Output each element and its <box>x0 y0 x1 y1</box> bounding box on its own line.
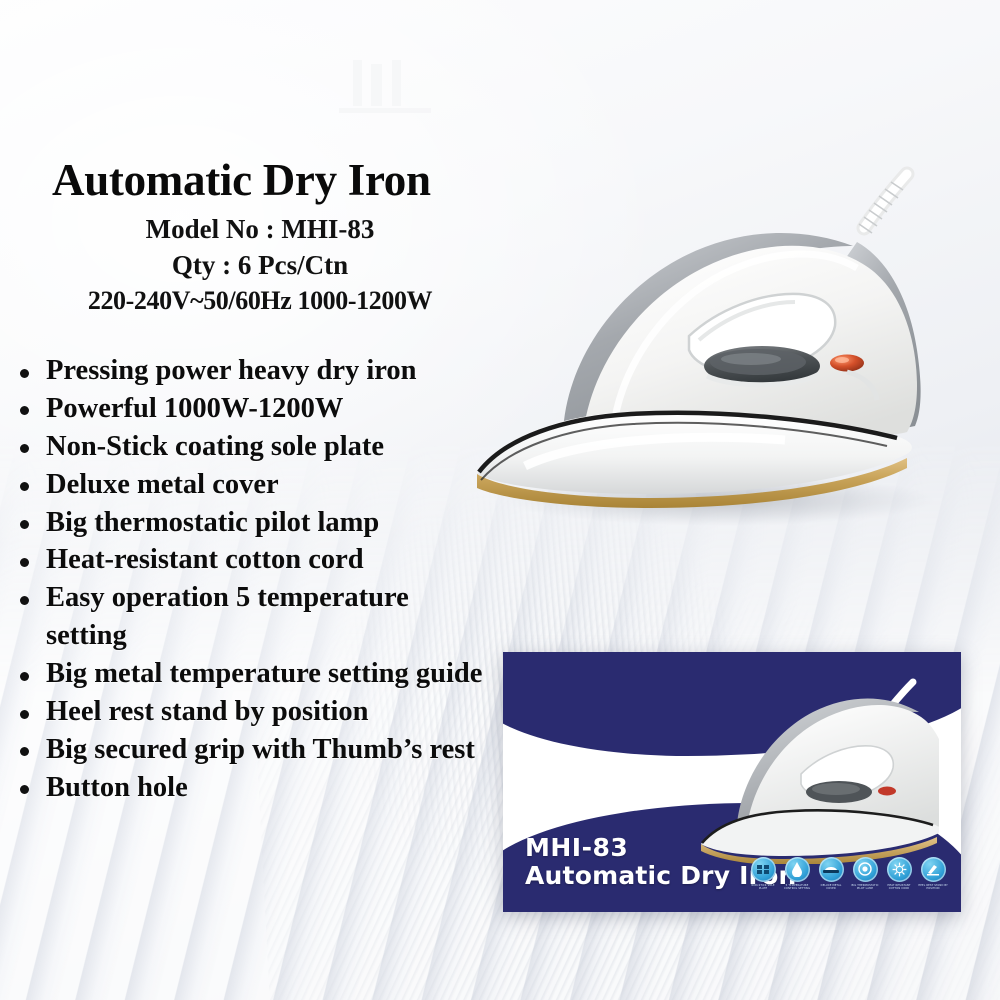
spec-voltage: 220-240V~50/60Hz 1000-1200W <box>40 284 480 319</box>
feature-text: Big secured grip with Thumb’s rest <box>46 734 475 765</box>
list-item: Pressing power heavy dry iron <box>14 352 484 390</box>
bullet-dot-icon <box>20 710 29 719</box>
badge-caption: DELUXE METAL COVER <box>816 884 846 890</box>
bullet-dot-icon <box>20 444 29 453</box>
badge-caption: HEAT RESISTANT COTTON CORD <box>884 884 914 890</box>
pilot-lamp-indicator <box>830 355 864 372</box>
heat-resistant-cord-icon <box>887 857 912 882</box>
box-feature-badge-row: NON-STICK SOLE PLATE 5 TEMPERATURE CONTR… <box>749 857 947 890</box>
badge-caption: NON-STICK SOLE PLATE <box>748 884 778 890</box>
feature-text: Pressing power heavy dry iron <box>46 355 417 386</box>
bullet-dot-icon <box>20 672 29 681</box>
list-item: Deluxe metal cover <box>14 466 484 504</box>
bullet-dot-icon <box>20 596 29 605</box>
badge-non-stick-sole-plate: NON-STICK SOLE PLATE <box>749 857 777 890</box>
list-item: Big thermostatic pilot lamp <box>14 504 484 542</box>
temperature-control-icon <box>785 857 810 882</box>
product-photo-iron <box>455 150 985 540</box>
feature-text: Big metal temperature setting guide <box>46 658 482 689</box>
list-item: Big metal temperature setting guide <box>14 655 484 693</box>
feature-text: Button hole <box>46 772 188 803</box>
feature-text: Powerful 1000W-1200W <box>46 393 343 424</box>
list-item: Powerful 1000W-1200W <box>14 390 484 428</box>
power-cord <box>859 174 907 233</box>
bullet-dot-icon <box>20 520 29 529</box>
spec-qty: Qty : 6 Pcs/Ctn <box>40 248 480 284</box>
list-item: Heat-resistant cotton cord <box>14 541 484 579</box>
box-iron-pilot-lamp <box>878 787 896 796</box>
feature-text: Heel rest stand by position <box>46 696 369 727</box>
faint-watermark-logo <box>345 60 420 122</box>
badge-heel-rest: HEEL REST STAND BY POSITION <box>919 857 947 890</box>
bullet-dot-icon <box>20 369 29 378</box>
list-item: Big secured grip with Thumb’s rest <box>14 731 484 769</box>
badge-deluxe-metal-cover: DELUXE METAL COVER <box>817 857 845 890</box>
bullet-dot-icon <box>20 406 29 415</box>
feature-text: Big thermostatic pilot lamp <box>46 507 379 538</box>
badge-caption: 5 TEMPERATURE CONTROL SETTING <box>782 884 812 890</box>
bullet-dot-icon <box>20 747 29 756</box>
badge-caption: BIG THERMOSTATIC PILOT LAMP <box>850 884 880 890</box>
bullet-dot-icon <box>20 482 29 491</box>
product-spec-block: Model No : MHI-83 Qty : 6 Pcs/Ctn 220-24… <box>40 212 480 318</box>
feature-list: Pressing power heavy dry iron Powerful 1… <box>14 352 484 807</box>
badge-temperature-control: 5 TEMPERATURE CONTROL SETTING <box>783 857 811 890</box>
spec-model: Model No : MHI-83 <box>40 212 480 248</box>
product-headline: Automatic Dry Iron <box>52 158 472 203</box>
product-advertisement-poster: Automatic Dry Iron Model No : MHI-83 Qty… <box>0 0 1000 1000</box>
feature-text: Easy operation 5 temperature setting <box>46 582 409 651</box>
thermostat-dial <box>704 346 820 386</box>
list-item: Heel rest stand by position <box>14 693 484 731</box>
list-item: Non-Stick coating sole plate <box>14 428 484 466</box>
badge-thermostatic-pilot-lamp: BIG THERMOSTATIC PILOT LAMP <box>851 857 879 890</box>
heel-rest-icon <box>921 857 946 882</box>
non-stick-sole-plate-icon <box>751 857 776 882</box>
bullet-dot-icon <box>20 785 29 794</box>
feature-text: Deluxe metal cover <box>46 469 279 500</box>
feature-text: Non-Stick coating sole plate <box>46 431 384 462</box>
badge-caption: HEEL REST STAND BY POSITION <box>918 884 948 890</box>
feature-text: Heat-resistant cotton cord <box>46 544 364 575</box>
list-item: Easy operation 5 temperature setting <box>14 579 484 655</box>
thermostatic-pilot-lamp-icon <box>853 857 878 882</box>
list-item: Button hole <box>14 769 484 807</box>
retail-package-box: MHI-83 Automatic Dry Iron NON-STICK SOLE… <box>503 652 961 912</box>
box-iron-dial-highlight <box>812 783 860 795</box>
bullet-dot-icon <box>20 558 29 567</box>
badge-heat-resistant-cord: HEAT RESISTANT COTTON CORD <box>885 857 913 890</box>
deluxe-metal-cover-icon <box>819 857 844 882</box>
